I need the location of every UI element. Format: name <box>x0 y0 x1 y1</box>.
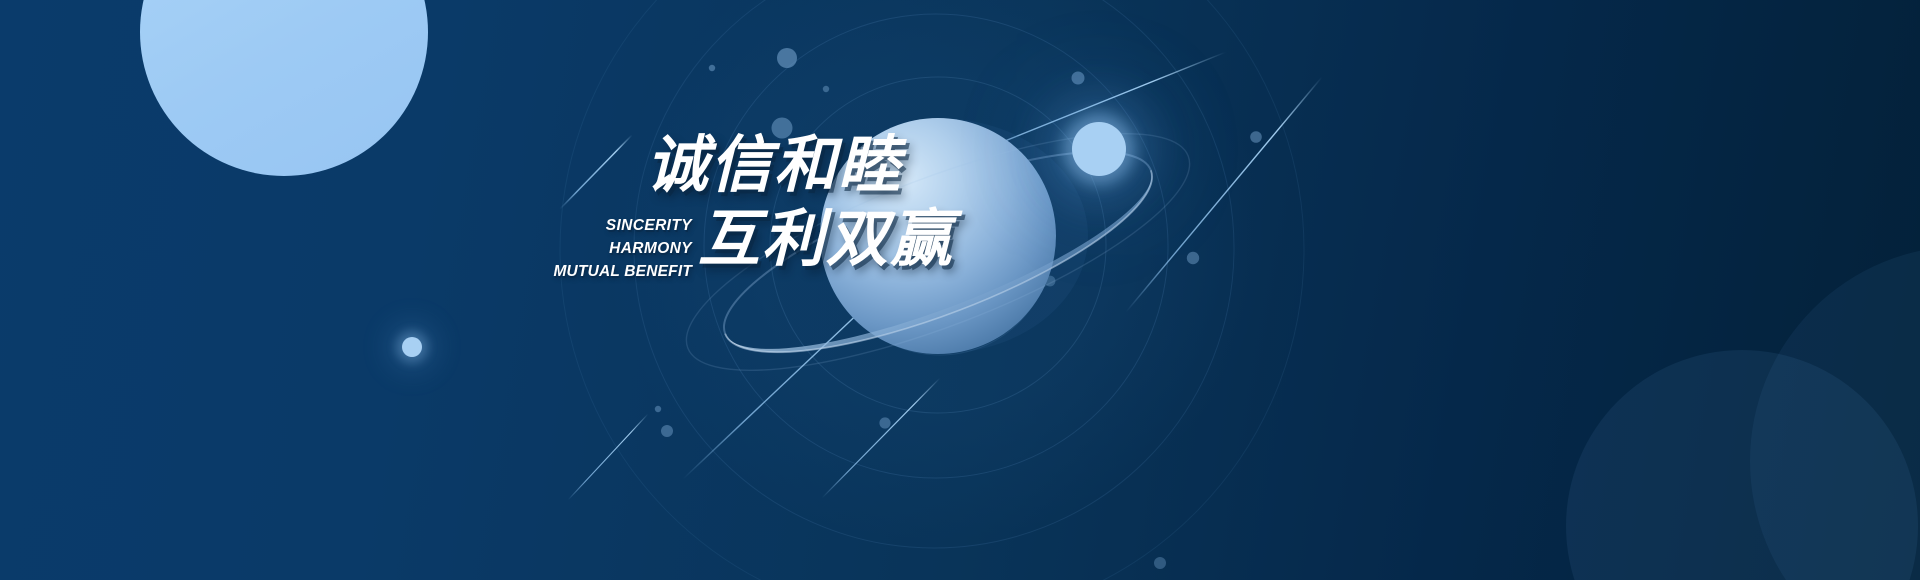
orbit-dot <box>823 86 829 92</box>
orbit-dot <box>661 425 673 437</box>
orbit-dot <box>1250 131 1262 143</box>
glowing-dot-right <box>1072 122 1126 176</box>
hero-banner: SINCERITY HARMONY MUTUAL BENEFIT 诚信和睦 互利… <box>0 0 1920 580</box>
decorative-circle-top-left <box>140 0 428 176</box>
chinese-headline-line-1: 诚信和睦 <box>646 128 954 202</box>
orbit-dot <box>1154 557 1166 569</box>
streak-line <box>822 378 940 498</box>
orbit-dot <box>777 48 797 68</box>
streak-line <box>1126 77 1322 312</box>
decorative-circle-bottom-right-inner <box>1566 350 1918 580</box>
streak-line <box>568 414 648 500</box>
chinese-headline-line-2: 互利双赢 <box>646 202 954 276</box>
orbit-dot <box>709 65 715 71</box>
decorative-circle-bottom-right-outer <box>1750 246 1920 580</box>
orbit-dot <box>879 417 890 428</box>
orbit-dot <box>1187 252 1199 264</box>
orbit-dot <box>1072 72 1085 85</box>
chinese-headline: 诚信和睦 互利双赢 <box>646 128 954 276</box>
orbit-dot <box>655 406 661 412</box>
glowing-dot-left <box>402 337 422 357</box>
headline-block: SINCERITY HARMONY MUTUAL BENEFIT 诚信和睦 互利… <box>528 128 1048 318</box>
